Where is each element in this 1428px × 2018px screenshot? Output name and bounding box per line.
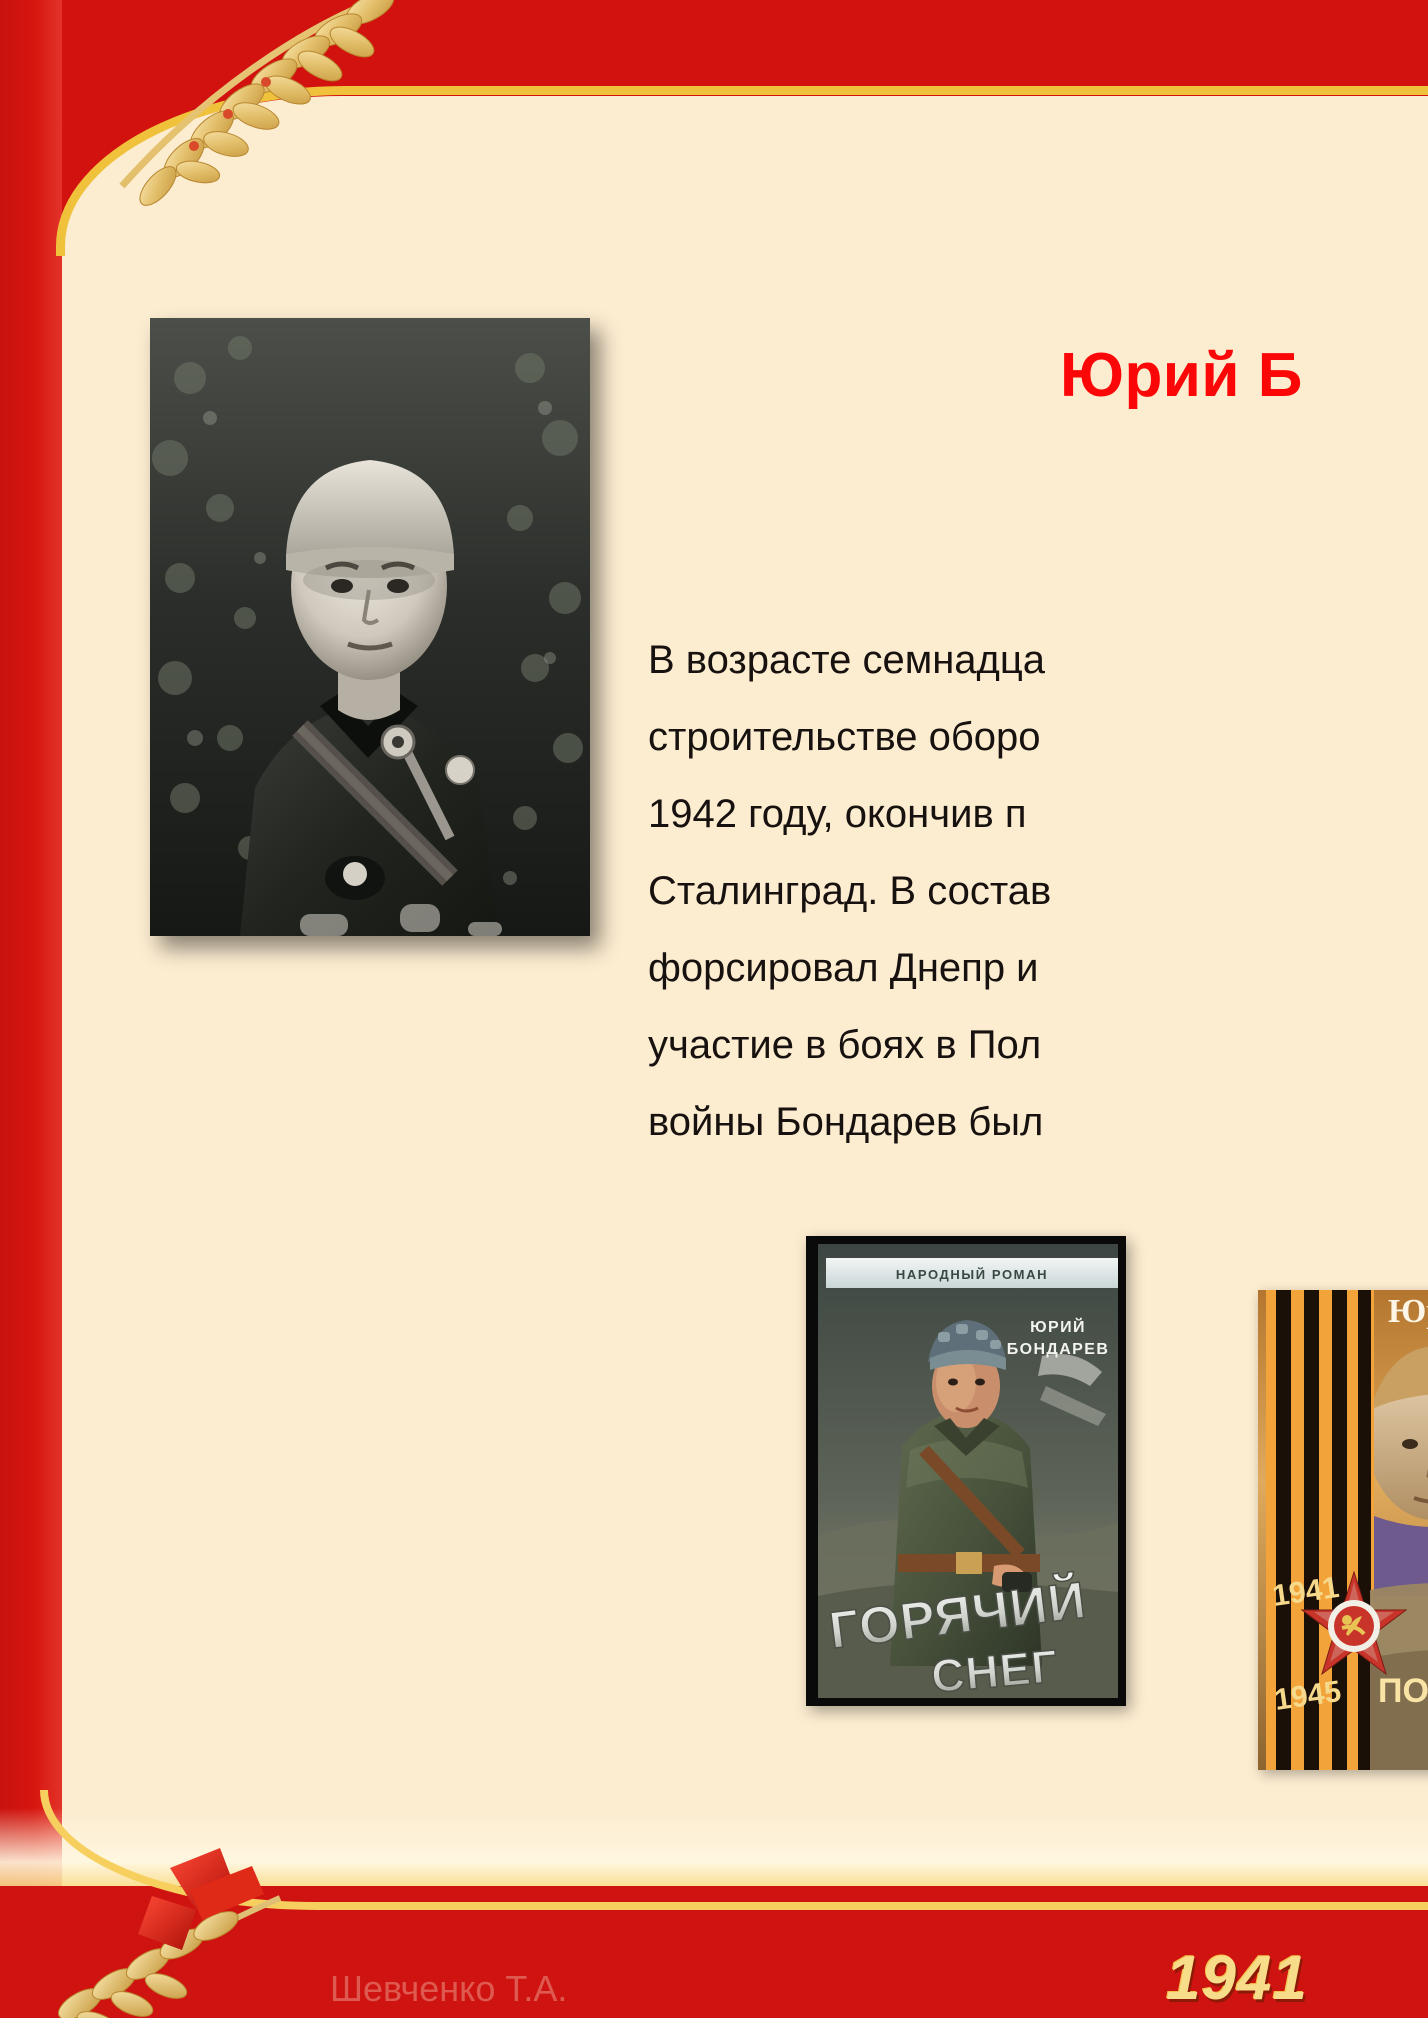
body-line-4: Сталинград. В состав (648, 853, 1428, 930)
book-cover-hot-snow: НАРОДНЫЙ РОМАН ЮРИЙ БОНДАРЕВ (806, 1236, 1126, 1706)
frame-left-band (0, 0, 62, 2018)
author-watermark: Шевченко Т.А. (330, 1968, 567, 2010)
svg-text:ЮРИЙ: ЮРИЙ (1030, 1317, 1086, 1336)
footer-year: 1941 (1166, 1943, 1308, 2014)
body-line-1: В возрасте семнадца (648, 622, 1428, 699)
svg-text:СНЕГ: СНЕГ (929, 1640, 1060, 1703)
victory-poster-image: Юр 1941 1945 ПО (1258, 1290, 1428, 1770)
slide-root: Юрий Б (0, 0, 1428, 2018)
body-paragraph: В возрасте семнадца строительстве оборо … (648, 622, 1428, 1161)
body-line-5: форсировал Днепр и (648, 930, 1428, 1007)
body-line-7: войны Бондарев был (648, 1084, 1428, 1161)
svg-text:Юр: Юр (1388, 1293, 1428, 1330)
page-title: Юрий Б (1060, 340, 1303, 411)
svg-text:ПО: ПО (1378, 1672, 1428, 1710)
body-line-6: участие в боях в Пол (648, 1007, 1428, 1084)
svg-text:НАРОДНЫЙ РОМАН: НАРОДНЫЙ РОМАН (896, 1267, 1048, 1282)
body-line-2: строительстве оборо (648, 699, 1428, 776)
body-line-3: 1942 году, окончив п (648, 776, 1428, 853)
soldier-portrait-photo (150, 318, 590, 936)
